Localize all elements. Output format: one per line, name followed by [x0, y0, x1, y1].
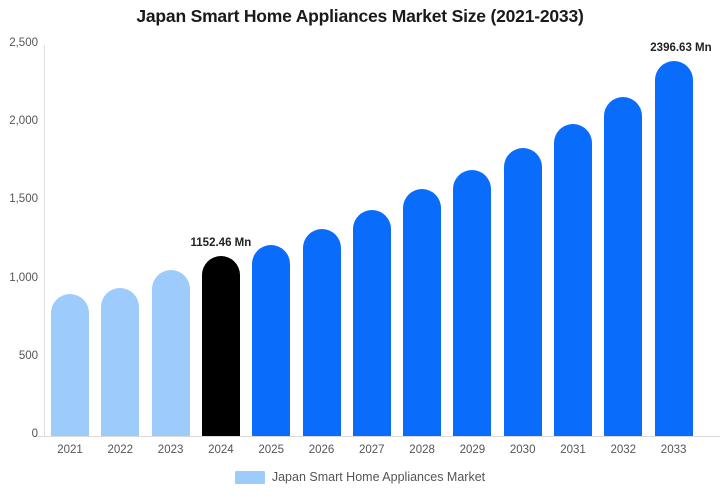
- bar-2029[interactable]: [453, 170, 491, 436]
- bar-2025[interactable]: [252, 245, 290, 436]
- x-axis-tick-label: 2022: [108, 444, 134, 456]
- bar-2033[interactable]: [655, 61, 693, 436]
- bar-2032[interactable]: [604, 97, 642, 436]
- y-axis-tick-text: 1,500: [9, 193, 38, 205]
- x-axis-line: [33, 436, 720, 437]
- y-axis-tick-text: 2,000: [9, 115, 38, 127]
- y-axis-tick-text: 1,000: [9, 272, 38, 284]
- x-axis-tick-label: 2028: [409, 444, 435, 456]
- plot-area: 05001,0001,5002,0002,500 202120222023202…: [0, 0, 720, 460]
- y-axis-line: [44, 45, 45, 436]
- x-axis-tick-label: 2032: [611, 444, 637, 456]
- bar-data-label-2033: 2396.63 Mn: [650, 42, 711, 54]
- legend-swatch: [235, 471, 265, 484]
- bar-2024[interactable]: [202, 256, 240, 436]
- legend-item[interactable]: Japan Smart Home Appliances Market: [235, 470, 485, 484]
- x-axis-tick-label: 2024: [208, 444, 234, 456]
- bar-2031[interactable]: [554, 124, 592, 436]
- x-axis-tick-label: 2021: [57, 444, 83, 456]
- bar-2028[interactable]: [403, 189, 441, 436]
- y-axis-tick-text: 500: [19, 350, 38, 362]
- x-axis-tick-label: 2023: [158, 444, 184, 456]
- x-axis-tick-label: 2027: [359, 444, 385, 456]
- x-axis-tick-label: 2033: [661, 444, 687, 456]
- x-axis-tick-label: 2026: [309, 444, 335, 456]
- y-axis-tick-text: 2,500: [9, 37, 38, 49]
- chart-container: Japan Smart Home Appliances Market Size …: [0, 0, 720, 500]
- bar-2027[interactable]: [353, 210, 391, 436]
- y-axis-tick-text: 0: [32, 428, 38, 440]
- bar-2021[interactable]: [51, 294, 89, 436]
- bar-2026[interactable]: [303, 229, 341, 436]
- bar-data-label-2024: 1152.46 Mn: [191, 237, 252, 249]
- x-axis-tick-label: 2030: [510, 444, 536, 456]
- chart-legend: Japan Smart Home Appliances Market: [0, 470, 720, 484]
- x-axis-tick-label: 2025: [258, 444, 284, 456]
- bar-2023[interactable]: [152, 270, 190, 436]
- x-axis-tick-label: 2031: [560, 444, 586, 456]
- bar-2030[interactable]: [504, 148, 542, 436]
- x-axis-tick-label: 2029: [460, 444, 486, 456]
- bar-2022[interactable]: [101, 288, 139, 436]
- legend-label: Japan Smart Home Appliances Market: [272, 470, 485, 484]
